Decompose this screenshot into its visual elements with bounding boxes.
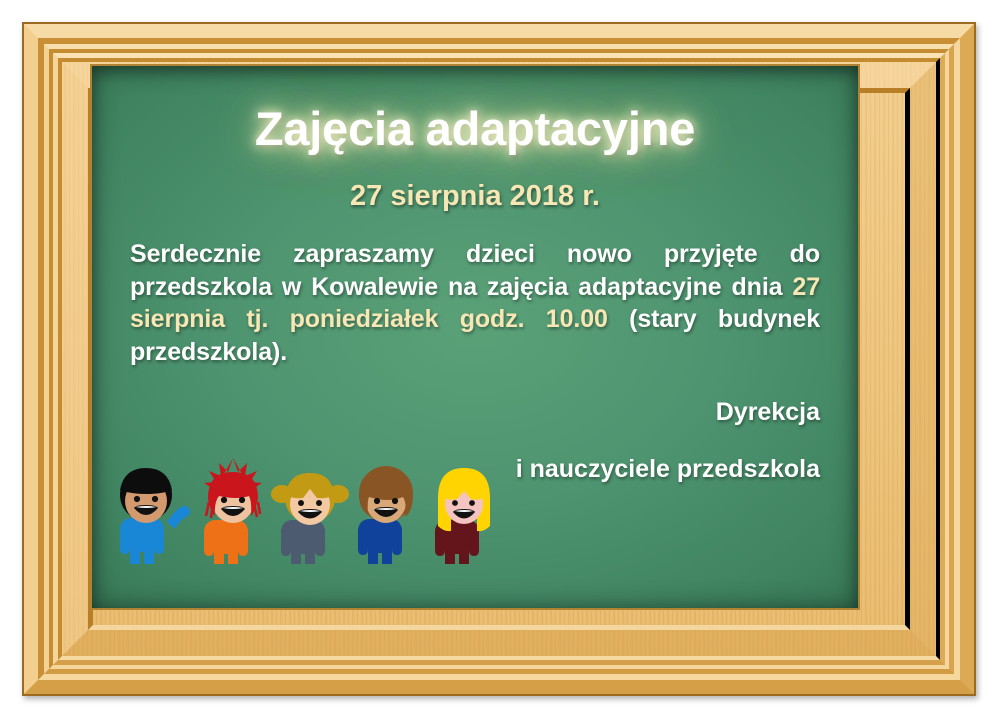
five-children-illustration [110,454,500,564]
body-part-1: Serdecznie zapraszamy dzieci nowo przyję… [130,240,820,301]
poster-title: Zajęcia adaptacyjne [130,104,820,153]
child-blonde-pigtails-slate [270,464,350,564]
poster-date: 27 sierpnia 2018 r. [130,180,820,213]
chalkboard: Zajęcia adaptacyjne 27 sierpnia 2018 r. … [92,66,858,608]
child-black-hair-blue [110,460,196,564]
child-brown-hair-navy [346,461,428,564]
chalkboard-content: Zajęcia adaptacyjne 27 sierpnia 2018 r. … [92,66,858,608]
poster-canvas: Zajęcia adaptacyjne 27 sierpnia 2018 r. … [0,0,1000,714]
signature-line-1: Dyrekcja [130,398,820,427]
child-yellow-hair-maroon [424,466,504,564]
child-red-hair-orange [192,454,274,564]
poster-body: Serdecznie zapraszamy dzieci nowo przyję… [130,238,820,368]
